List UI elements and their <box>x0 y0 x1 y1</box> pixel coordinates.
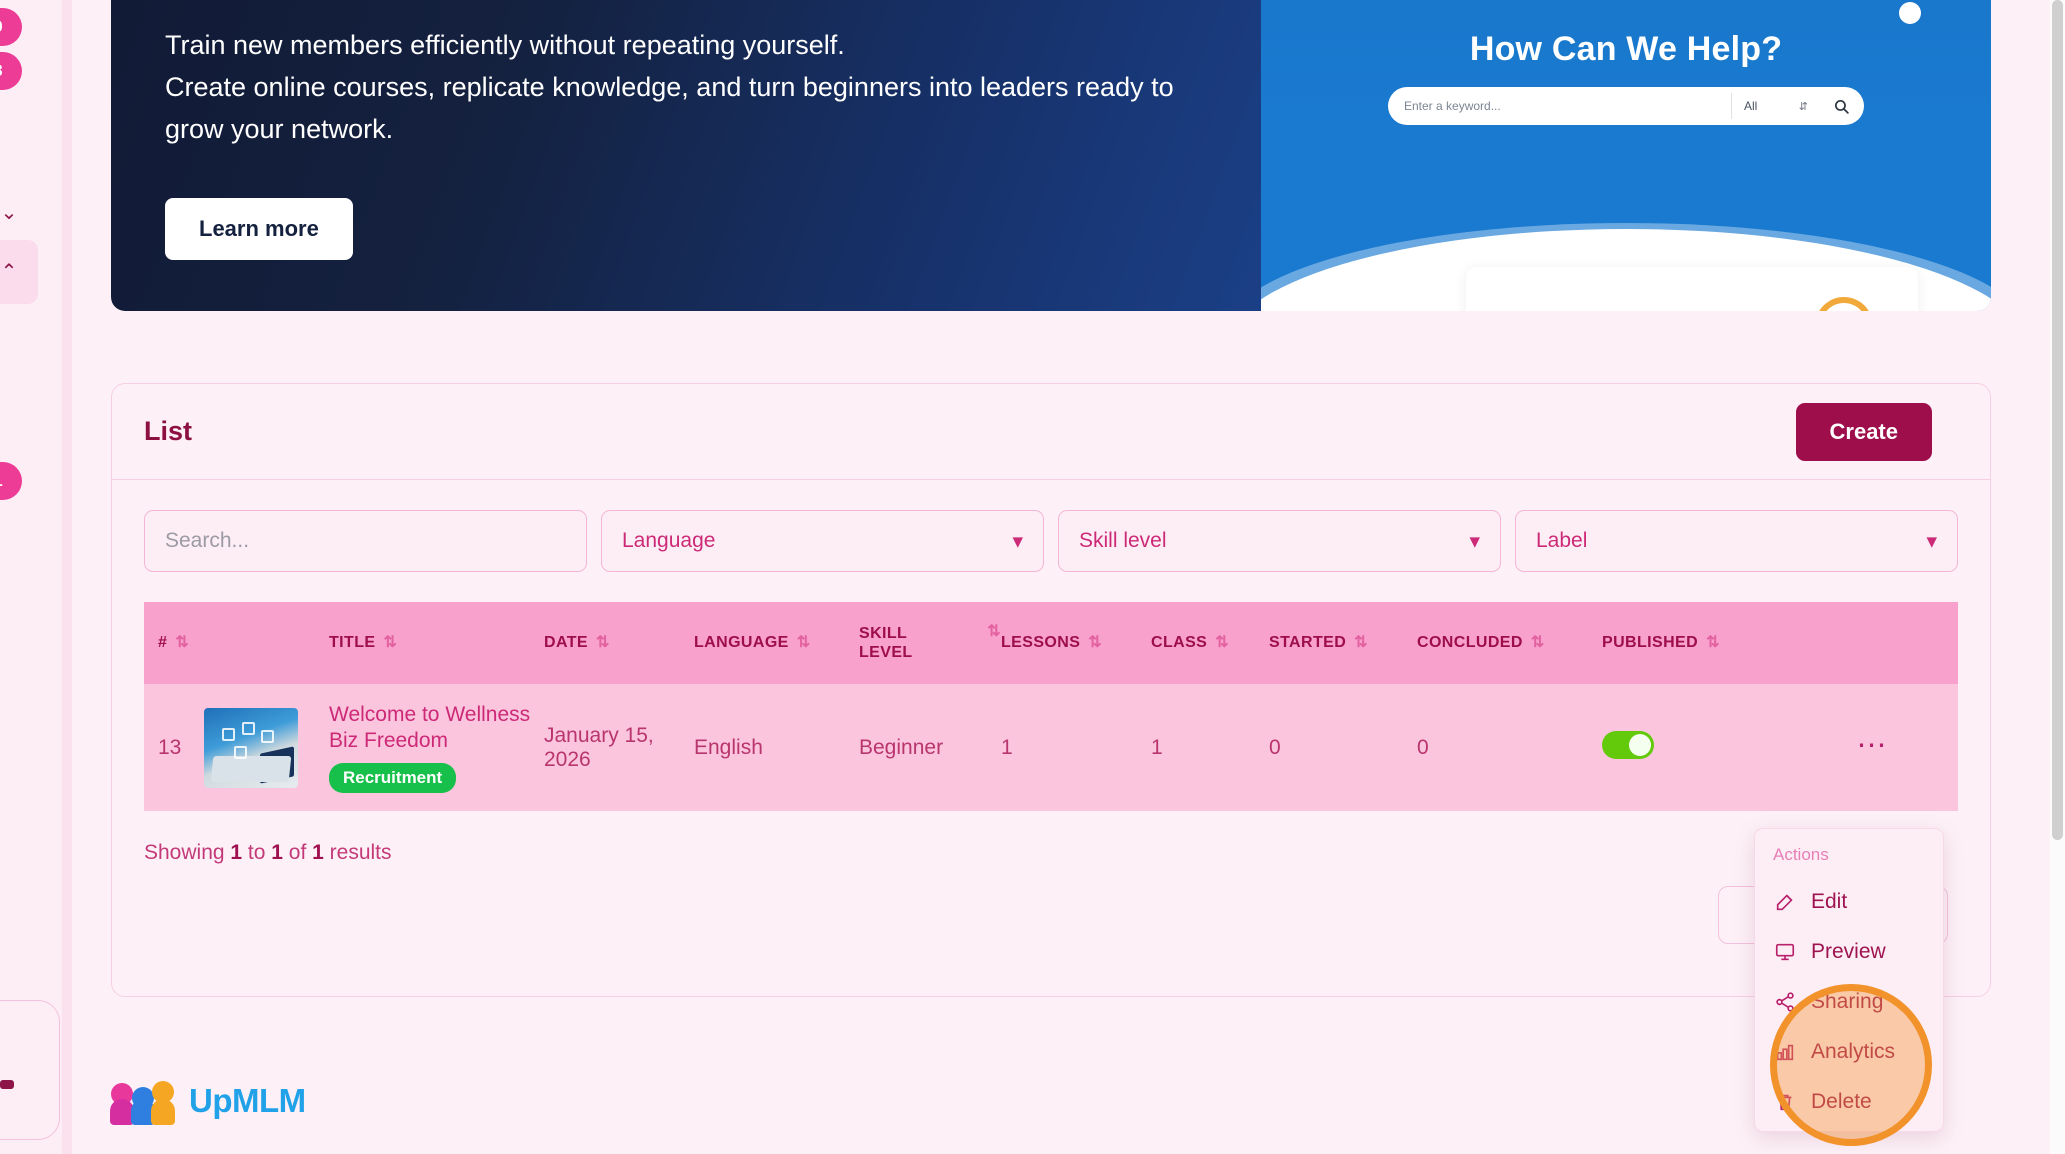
hero-left-panel: Train new members efficiently without re… <box>111 0 1261 311</box>
page-title: List <box>144 416 192 447</box>
menu-item-analytics[interactable]: Analytics <box>1755 1027 1943 1077</box>
sidebar-divider <box>62 0 72 1154</box>
row-actions-ellipsis-icon[interactable]: ⋯ <box>1855 735 1891 757</box>
published-toggle[interactable] <box>1602 731 1654 759</box>
label-filter-value: Label <box>1536 529 1587 553</box>
list-card-body: Language ▾ Skill level ▾ Label ▾ <box>112 480 1990 865</box>
thumbnail-glyph-icon <box>242 722 255 735</box>
menu-item-label: Edit <box>1811 890 1847 914</box>
list-card-header: List Create <box>112 384 1990 480</box>
cell-title: Welcome to Wellness Biz Freedom Recruitm… <box>329 684 544 811</box>
help-search-bar[interactable]: All ⇵ <box>1388 87 1864 125</box>
th-label: LESSONS <box>1001 634 1080 652</box>
th-label: PUBLISHED <box>1602 634 1698 652</box>
th-class[interactable]: CLASS ⇅ <box>1151 602 1269 684</box>
list-card: List Create Language ▾ Skill level ▾ Lab… <box>111 383 1991 997</box>
pencil-square-icon <box>1773 891 1797 913</box>
th-title[interactable]: TITLE ⇅ <box>329 602 544 684</box>
sidebar-badge: 3 <box>0 52 22 90</box>
create-button[interactable]: Create <box>1796 403 1932 461</box>
chevron-down-icon: ▾ <box>1012 529 1023 554</box>
cell-started: 0 <box>1269 684 1417 811</box>
th-label: SKILL LEVEL <box>859 624 919 662</box>
menu-item-edit[interactable]: Edit <box>1755 877 1943 927</box>
actions-menu-heading: Actions <box>1755 835 1943 877</box>
th-label: DATE <box>544 634 588 652</box>
table-header-row: # ⇅ TITLE ⇅ DATE ⇅ <box>144 602 1958 684</box>
showing-from: 1 <box>230 841 242 864</box>
sort-icon[interactable]: ⇅ <box>596 635 610 651</box>
menu-item-label: Preview <box>1811 940 1886 964</box>
courses-table: # ⇅ TITLE ⇅ DATE ⇅ <box>144 602 1958 811</box>
chevron-down-icon[interactable]: ⌄ <box>0 203 26 223</box>
table-row[interactable]: 13 <box>144 684 1958 811</box>
results-count: Showing 1 to 1 of 1 results <box>144 841 1958 865</box>
sort-icon[interactable]: ⇅ <box>1706 635 1720 651</box>
search-icon <box>1833 98 1850 115</box>
bar-chart-icon <box>1773 1041 1797 1063</box>
course-tag-badge: Recruitment <box>329 763 456 793</box>
menu-item-label: Sharing <box>1811 990 1883 1014</box>
menu-item-label: Delete <box>1811 1090 1872 1114</box>
sort-icon[interactable]: ⇅ <box>1531 635 1545 651</box>
cell-number: 13 <box>144 684 204 811</box>
th-number[interactable]: # ⇅ <box>144 602 204 684</box>
th-label: LANGUAGE <box>694 634 789 652</box>
th-label: CONCLUDED <box>1417 634 1523 652</box>
thumbnail-glyph-icon <box>261 730 274 743</box>
sort-icon[interactable]: ⇅ <box>1354 635 1368 651</box>
menu-item-preview[interactable]: Preview <box>1755 927 1943 977</box>
th-actions <box>1787 602 1958 684</box>
help-search-scope-select[interactable]: All ⇵ <box>1732 87 1818 125</box>
skill-level-filter-select[interactable]: Skill level ▾ <box>1058 510 1501 572</box>
monitor-icon <box>1773 941 1797 963</box>
hero-right-panel: How Can We Help? All ⇵ <box>1261 0 1991 311</box>
sort-icon[interactable]: ⇅ <box>987 624 1001 640</box>
brand-name: UpMLM <box>189 1082 306 1120</box>
skill-level-filter-value: Skill level <box>1079 529 1167 553</box>
thumbnail-glyph-icon <box>234 746 247 759</box>
sidebar-sliver: 0 3 ⌄ ⌃ 1 <box>0 0 62 1154</box>
sidebar-bullet-icon <box>0 1080 14 1089</box>
thumbnail-glyph-icon <box>222 728 235 741</box>
sort-icon[interactable]: ⇅ <box>383 635 397 651</box>
thumbnail-laptop <box>211 756 292 782</box>
th-started[interactable]: STARTED ⇅ <box>1269 602 1417 684</box>
updown-caret-icon: ⇵ <box>1799 100 1808 113</box>
trash-icon <box>1773 1091 1797 1113</box>
language-filter-value: Language <box>622 529 715 553</box>
decorative-dot <box>1899 2 1921 24</box>
help-search-input[interactable] <box>1388 87 1731 125</box>
hero-copy: Train new members efficiently without re… <box>165 24 1195 150</box>
th-thumbnail <box>204 602 329 684</box>
menu-item-sharing[interactable]: Sharing <box>1755 977 1943 1027</box>
language-filter-select[interactable]: Language ▾ <box>601 510 1044 572</box>
cell-concluded: 0 <box>1417 684 1602 811</box>
chevron-up-icon[interactable]: ⌃ <box>0 262 26 282</box>
help-search-button[interactable] <box>1818 87 1864 125</box>
showing-mid2: of <box>283 841 312 864</box>
app-root: 0 3 ⌄ ⌃ 1 Train new members efficiently … <box>0 0 2065 1154</box>
th-label: TITLE <box>329 634 375 652</box>
menu-item-label: Analytics <box>1811 1040 1895 1064</box>
showing-to: 1 <box>271 841 283 864</box>
cell-date: January 15, 2026 <box>544 684 694 811</box>
brand-logo[interactable]: UpMLM <box>111 1077 306 1125</box>
cell-skill-level: Beginner <box>859 684 1001 811</box>
cell-lessons: 1 <box>1001 684 1151 811</box>
chevron-down-icon: ▾ <box>1469 529 1480 554</box>
hero-line-2: Create online courses, replicate knowled… <box>165 66 1195 108</box>
chevron-down-icon: ▾ <box>1926 529 1937 554</box>
showing-prefix: Showing <box>144 841 230 864</box>
sort-icon[interactable]: ⇅ <box>175 635 189 651</box>
cell-class: 1 <box>1151 684 1269 811</box>
th-published[interactable]: PUBLISHED ⇅ <box>1602 602 1787 684</box>
th-label: CLASS <box>1151 634 1207 652</box>
help-search-scope-value: All <box>1744 99 1757 113</box>
sidebar-badge: 0 <box>0 8 22 46</box>
course-title-link[interactable]: Welcome to Wellness Biz Freedom <box>329 702 544 754</box>
course-thumbnail <box>204 708 298 788</box>
th-language[interactable]: LANGUAGE ⇅ <box>694 602 859 684</box>
cell-thumbnail <box>204 684 329 811</box>
sidebar-bottom-card[interactable] <box>0 1000 60 1140</box>
th-date[interactable]: DATE ⇅ <box>544 602 694 684</box>
th-lessons[interactable]: LESSONS ⇅ <box>1001 602 1151 684</box>
th-label: STARTED <box>1269 634 1346 652</box>
showing-total: 1 <box>312 841 324 864</box>
hero-line-3: grow your network. <box>165 108 1195 150</box>
main-content: Train new members efficiently without re… <box>72 0 2050 1154</box>
upmlm-people-logo-icon <box>111 1077 175 1125</box>
table-header: # ⇅ TITLE ⇅ DATE ⇅ <box>144 602 1958 684</box>
th-skill-level[interactable]: SKILL LEVEL ⇅ <box>859 602 1001 684</box>
showing-suffix: results <box>324 841 392 864</box>
sidebar-badge: 1 <box>0 462 22 500</box>
th-label: # <box>158 634 167 652</box>
sort-icon[interactable]: ⇅ <box>1215 635 1229 651</box>
cell-language: English <box>694 684 859 811</box>
sort-icon[interactable]: ⇅ <box>797 635 811 651</box>
th-concluded[interactable]: CONCLUDED ⇅ <box>1417 602 1602 684</box>
hero-banner: Train new members efficiently without re… <box>111 0 1991 311</box>
actions-dropdown-menu: Actions Edit Preview <box>1754 828 1944 1132</box>
menu-item-delete[interactable]: Delete <box>1755 1077 1943 1127</box>
learn-more-button[interactable]: Learn more <box>165 198 353 260</box>
help-title: How Can We Help? <box>1261 30 1991 69</box>
cell-published <box>1602 684 1787 811</box>
table-body: 13 <box>144 684 1958 811</box>
share-nodes-icon <box>1773 991 1797 1013</box>
showing-mid: to <box>242 841 271 864</box>
cell-actions: ⋯ <box>1787 684 1958 811</box>
search-input[interactable] <box>144 510 587 572</box>
page-scrollbar-track[interactable] <box>2050 0 2065 1154</box>
filter-bar: Language ▾ Skill level ▾ Label ▾ <box>144 510 1958 572</box>
sort-icon[interactable]: ⇅ <box>1088 635 1102 651</box>
label-filter-select[interactable]: Label ▾ <box>1515 510 1958 572</box>
hero-line-1: Train new members efficiently without re… <box>165 24 1195 66</box>
page-scrollbar-thumb[interactable] <box>2052 0 2063 840</box>
toggle-knob <box>1629 734 1651 756</box>
